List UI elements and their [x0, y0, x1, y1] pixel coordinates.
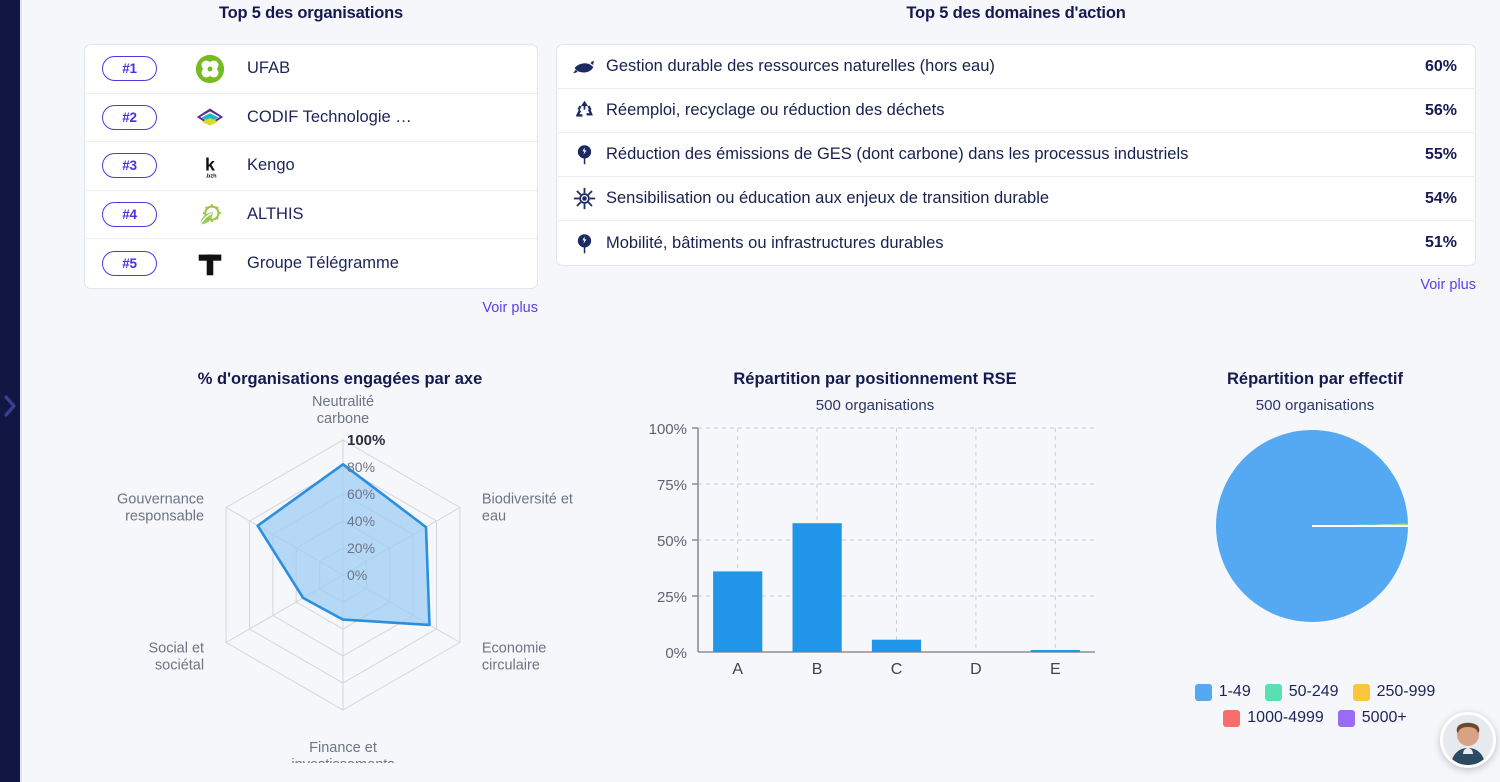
kengo-bzh-logo: k .bzh: [193, 149, 227, 183]
recycle-icon: [571, 98, 597, 124]
svg-text:80%: 80%: [347, 459, 375, 475]
svg-text:Biodiversité et: Biodiversité et: [482, 492, 573, 508]
domaines-see-more-link[interactable]: Voir plus: [556, 277, 1476, 293]
legend-item[interactable]: 5000+: [1338, 709, 1407, 727]
radar-chart-panel: % d'organisations engagées par axe 0%20%…: [105, 370, 575, 770]
ship-wheel-icon: [571, 186, 597, 212]
pie-chart: [1150, 426, 1480, 656]
top-organisations-title: Top 5 des organisations: [84, 4, 538, 23]
legend-row-2: 1000-4999 5000+: [1150, 709, 1480, 727]
svg-text:Social et: Social et: [148, 641, 204, 657]
dashboard-page: Top 5 des organisations #1 UFAB: [0, 0, 1500, 782]
domaine-value: 60%: [1425, 58, 1457, 76]
chevron-right-icon[interactable]: [2, 392, 18, 420]
domaine-value: 56%: [1425, 102, 1457, 120]
svg-text:responsable: responsable: [125, 509, 204, 525]
legend-swatch: [1353, 684, 1370, 701]
svg-text:25%: 25%: [657, 589, 687, 606]
svg-text:B: B: [812, 661, 823, 678]
support-avatar[interactable]: [1440, 712, 1496, 768]
rank-badge: #4: [102, 202, 157, 227]
legend-swatch: [1195, 684, 1212, 701]
domaine-label: Réemploi, recyclage ou réduction des déc…: [606, 101, 1425, 120]
legend-swatch: [1265, 684, 1282, 701]
domaine-label: Réduction des émissions de GES (dont car…: [606, 145, 1425, 164]
svg-text:carbone: carbone: [317, 411, 369, 427]
organisation-name: Groupe Télégramme: [247, 254, 399, 273]
leaf-gear-logo: [193, 198, 227, 232]
table-row[interactable]: Sensibilisation ou éducation aux enjeux …: [557, 177, 1475, 221]
svg-text:Economie: Economie: [482, 641, 546, 657]
top-organisations-panel: Top 5 des organisations #1 UFAB: [84, 4, 538, 316]
svg-text:E: E: [1050, 661, 1061, 678]
pie-chart-title: Répartition par effectif: [1150, 370, 1480, 389]
svg-text:sociétal: sociétal: [155, 658, 204, 674]
svg-text:50%: 50%: [657, 533, 687, 550]
svg-text:40%: 40%: [347, 513, 375, 529]
legend-swatch: [1223, 710, 1240, 727]
legend-label: 1000-4999: [1247, 709, 1324, 727]
sidebar-rail[interactable]: [0, 0, 20, 782]
bar-chart-panel: Répartition par positionnement RSE 500 o…: [640, 370, 1110, 700]
table-row[interactable]: Réduction des émissions de GES (dont car…: [557, 133, 1475, 177]
svg-text:circulaire: circulaire: [482, 658, 540, 674]
organisations-card: #1 UFAB #2: [84, 44, 538, 289]
rank-badge: #2: [102, 105, 157, 130]
radar-chart: 0%20%40%60%80%100%NeutralitécarboneBiodi…: [105, 393, 575, 763]
legend-row-1: 1-49 50-249 250-999: [1150, 683, 1480, 701]
svg-text:D: D: [970, 661, 982, 678]
legend-label: 1-49: [1219, 683, 1251, 701]
radar-chart-title: % d'organisations engagées par axe: [105, 370, 575, 389]
top-domaines-title: Top 5 des domaines d'action: [556, 4, 1476, 23]
domaine-value: 51%: [1425, 234, 1457, 252]
organisation-name: Kengo: [247, 156, 295, 175]
table-row[interactable]: Réemploi, recyclage ou réduction des déc…: [557, 89, 1475, 133]
rank-badge: #5: [102, 251, 157, 276]
table-row[interactable]: #1 UFAB: [85, 45, 537, 94]
svg-text:100%: 100%: [347, 432, 385, 449]
organisation-name: UFAB: [247, 59, 290, 78]
svg-text:C: C: [891, 661, 903, 678]
svg-text:Finance et: Finance et: [309, 740, 377, 756]
legend-label: 250-999: [1377, 683, 1436, 701]
svg-text:60%: 60%: [347, 486, 375, 502]
table-row[interactable]: Mobilité, bâtiments ou infrastructures d…: [557, 221, 1475, 265]
svg-text:A: A: [732, 661, 743, 678]
svg-text:investissements: investissements: [291, 757, 394, 763]
legend-label: 5000+: [1362, 709, 1407, 727]
svg-text:k: k: [205, 155, 215, 175]
domaine-label: Gestion durable des ressources naturelle…: [606, 57, 1425, 76]
organisation-name: CODIF Technologie …: [247, 108, 412, 127]
domaines-card: Gestion durable des ressources naturelle…: [556, 44, 1476, 266]
whale-icon: [571, 54, 597, 80]
svg-text:.bzh: .bzh: [205, 173, 217, 179]
svg-text:20%: 20%: [347, 540, 375, 556]
svg-text:Neutralité: Neutralité: [312, 394, 374, 410]
pie-chart-subtitle: 500 organisations: [1150, 397, 1480, 414]
clover-logo: [193, 52, 227, 86]
table-row[interactable]: Gestion durable des ressources naturelle…: [557, 45, 1475, 89]
organisations-see-more-link[interactable]: Voir plus: [84, 300, 538, 316]
legend-swatch: [1338, 710, 1355, 727]
svg-text:eau: eau: [482, 509, 506, 525]
domaine-label: Mobilité, bâtiments ou infrastructures d…: [606, 234, 1425, 253]
svg-text:75%: 75%: [657, 477, 687, 494]
rank-badge: #1: [102, 56, 157, 81]
domaine-value: 54%: [1425, 190, 1457, 208]
top-domaines-panel: Top 5 des domaines d'action Gestion dura…: [556, 4, 1476, 293]
tree-bolt-icon: [571, 230, 597, 256]
letter-t-logo: [193, 247, 227, 281]
rank-badge: #3: [102, 153, 157, 178]
svg-text:0%: 0%: [347, 567, 367, 583]
svg-text:100%: 100%: [649, 421, 687, 438]
legend-item[interactable]: 250-999: [1353, 683, 1436, 701]
legend-label: 50-249: [1289, 683, 1339, 701]
legend-item[interactable]: 1-49: [1195, 683, 1251, 701]
legend-item[interactable]: 1000-4999: [1223, 709, 1324, 727]
table-row[interactable]: #3 k .bzh Kengo: [85, 142, 537, 191]
table-row[interactable]: #4 ALTHIS: [85, 191, 537, 240]
bar-chart: 0%25%50%75%100%ABCDE: [640, 420, 1110, 695]
bar-chart-subtitle: 500 organisations: [640, 397, 1110, 414]
legend-item[interactable]: 50-249: [1265, 683, 1339, 701]
svg-text:0%: 0%: [665, 645, 687, 662]
table-row[interactable]: #5 Groupe Télégramme: [85, 239, 537, 288]
table-row[interactable]: #2 CODIF Technologie …: [85, 94, 537, 143]
pie-legend: 1-49 50-249 250-999 1000-4999 5000+: [1150, 683, 1480, 735]
organisation-name: ALTHIS: [247, 205, 304, 224]
bar-chart-title: Répartition par positionnement RSE: [640, 370, 1110, 389]
tree-bolt-icon: [571, 142, 597, 168]
diamond-logo: [193, 100, 227, 134]
sidebar-divider: [20, 0, 22, 782]
svg-text:Gouvernance: Gouvernance: [117, 492, 204, 508]
domaine-label: Sensibilisation ou éducation aux enjeux …: [606, 189, 1425, 208]
domaine-value: 55%: [1425, 146, 1457, 164]
